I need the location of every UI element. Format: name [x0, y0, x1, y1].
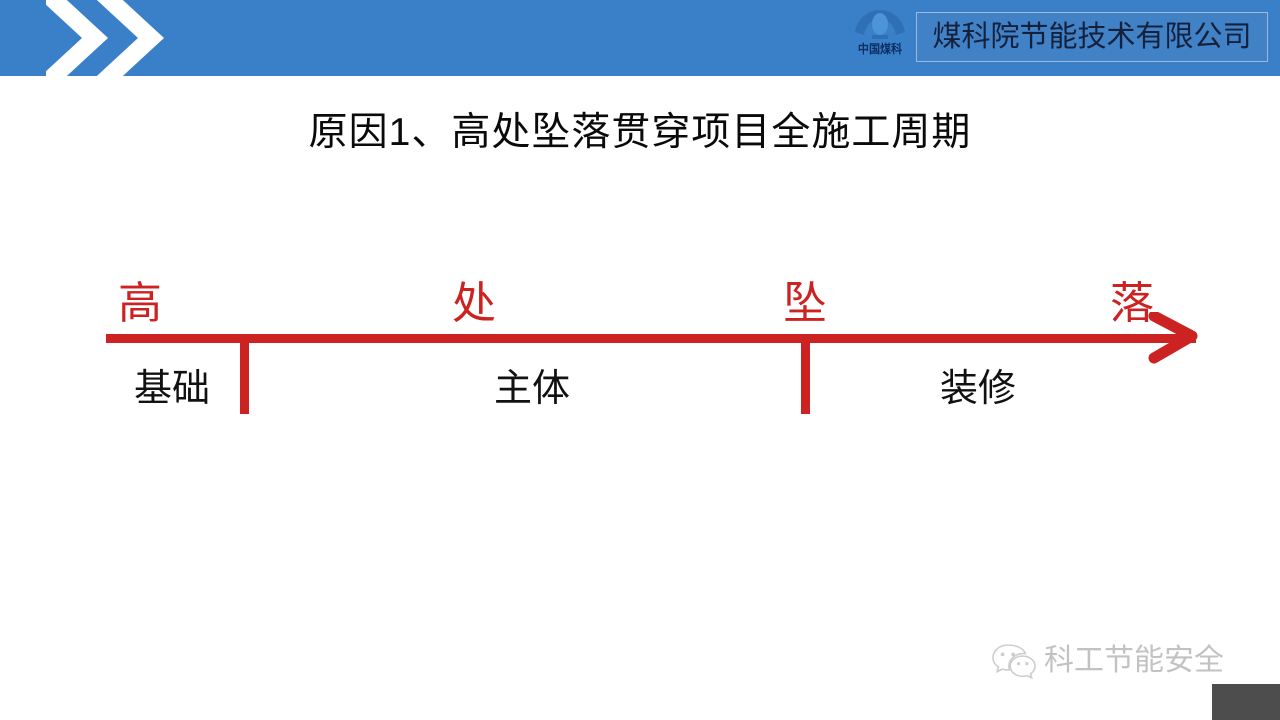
stage-label-structure: 主体	[494, 367, 570, 411]
timeline-tick-1	[240, 338, 249, 414]
timeline-axis	[106, 334, 1196, 343]
stage-label-foundation: 基础	[134, 367, 210, 411]
double-chevron-right-icon	[46, 0, 166, 76]
timeline-tick-2	[801, 338, 810, 414]
phase-character-4: 落	[1110, 280, 1154, 328]
china-coal-emblem-icon	[852, 8, 908, 42]
company-name-box: 煤科院节能技术有限公司	[916, 12, 1268, 62]
logo-text: 中国煤科	[858, 43, 902, 56]
page-title: 原因1、高处坠落贯穿项目全施工周期	[0, 108, 1280, 158]
phase-character-1: 高	[118, 280, 162, 328]
phase-character-3: 坠	[783, 280, 827, 328]
watermark-text: 科工节能安全	[1044, 643, 1224, 679]
slide-canvas: 中国煤科 煤科院节能技术有限公司 原因1、高处坠落贯穿项目全施工周期 高 处 坠…	[0, 0, 1280, 720]
wechat-icon	[992, 642, 1036, 680]
header-band: 中国煤科 煤科院节能技术有限公司	[0, 0, 1280, 76]
phase-character-2: 处	[452, 280, 496, 328]
company-logo: 中国煤科	[845, 8, 915, 70]
watermark: 科工节能安全	[992, 642, 1224, 680]
corner-block	[1212, 684, 1280, 720]
stage-label-decoration: 装修	[940, 367, 1016, 411]
arrow-right-icon	[1148, 312, 1206, 364]
company-name: 煤科院节能技术有限公司	[932, 21, 1251, 53]
